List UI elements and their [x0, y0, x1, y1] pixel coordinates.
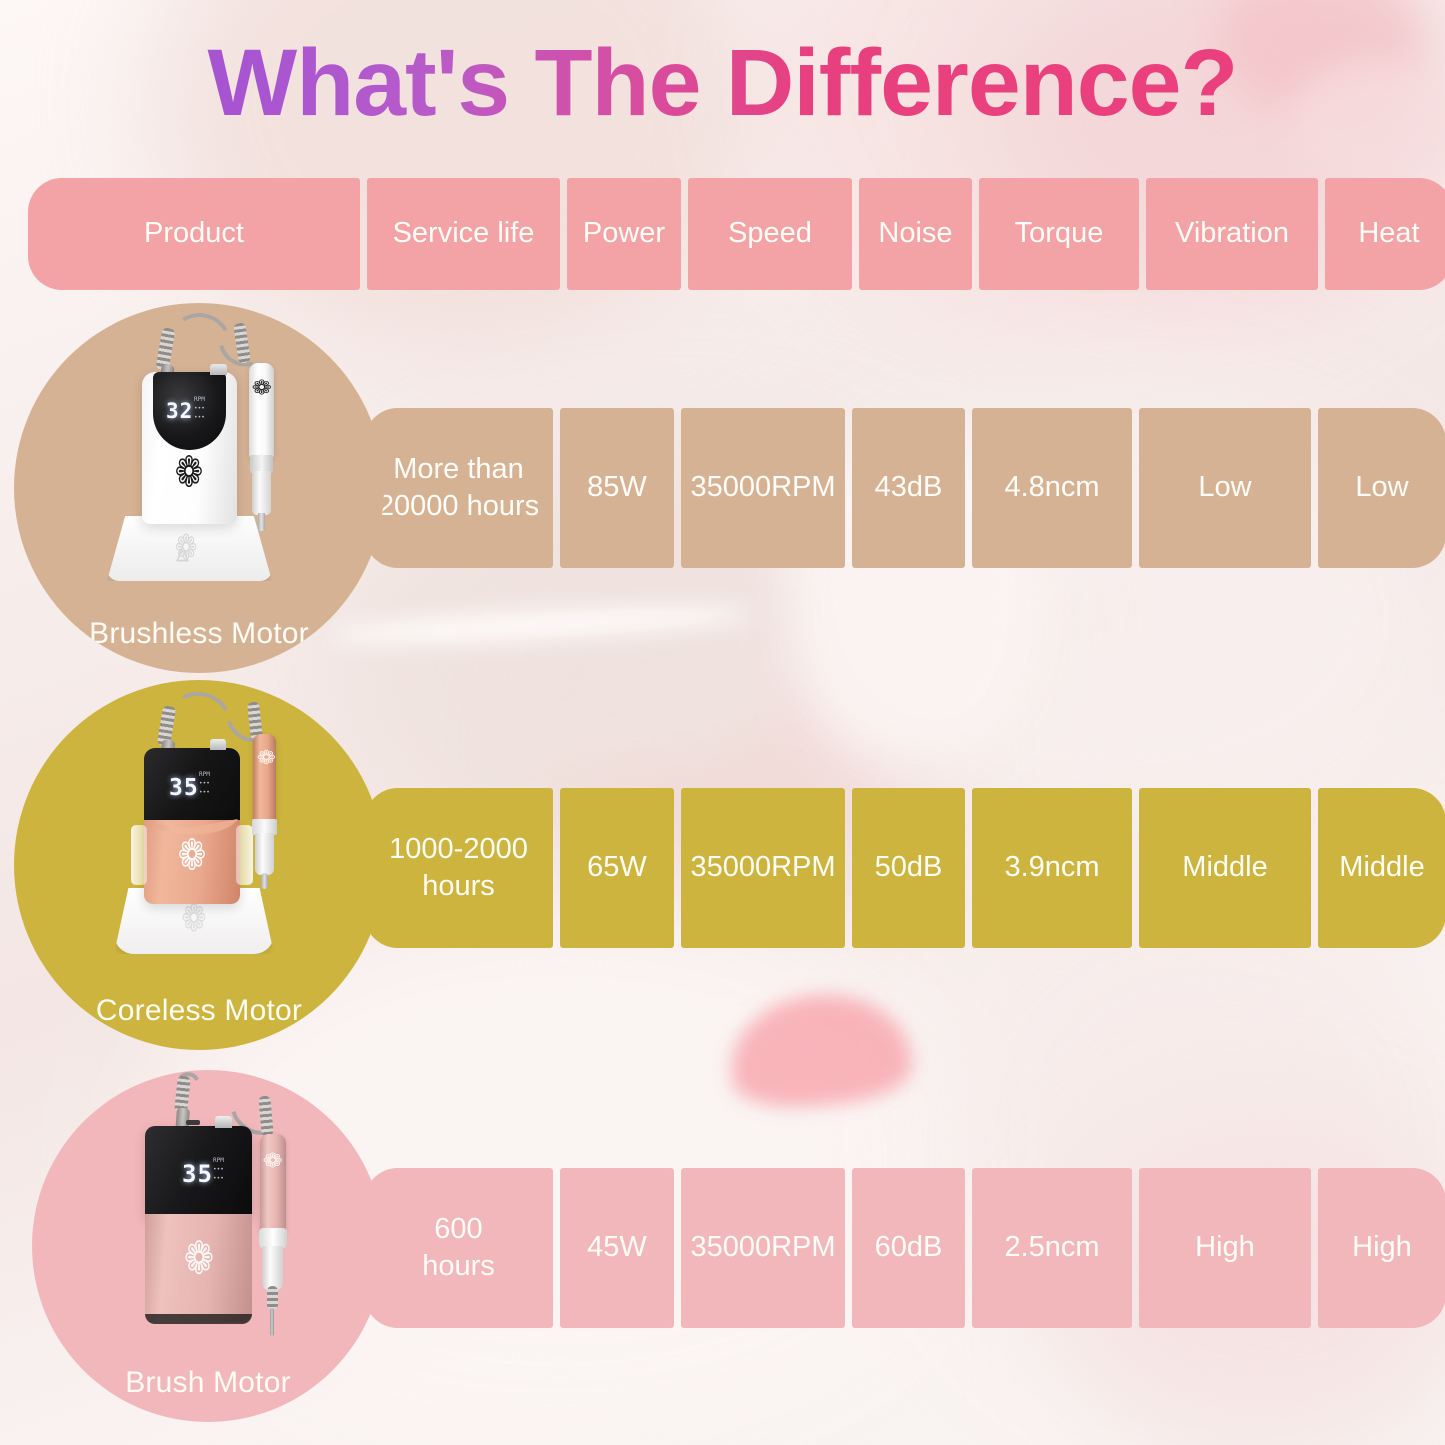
header-cell-noise: Noise — [859, 178, 972, 290]
page-title: What's The Difference? — [0, 34, 1445, 134]
product-label: Brush Motor — [125, 1366, 291, 1422]
header-cell-vibration: Vibration — [1146, 178, 1318, 290]
cell-vibration: High — [1139, 1168, 1311, 1328]
cell-power: 85W — [560, 408, 674, 568]
service-line-2: 20000 hours — [378, 490, 539, 522]
product-label: Brushless Motor — [89, 617, 309, 673]
product-circle-coreless: ❁ 35 RPM•••••• ❁ ❁ Coreless Motor — [14, 680, 384, 1050]
header-cell-speed: Speed — [688, 178, 852, 290]
service-line-2: hours — [422, 870, 495, 902]
service-line-1: 1000-2000 — [389, 833, 528, 865]
device-display-value: 35 — [182, 1160, 213, 1188]
cell-torque: 4.8ncm — [972, 408, 1132, 568]
header-cell-service: Service life — [367, 178, 560, 290]
cell-heat: High — [1318, 1168, 1445, 1328]
cell-heat: Middle — [1318, 788, 1445, 948]
product-circle-brushless: ▵ ❁ 32 RPM•••••• ❁ ❁ Brushless Motor — [14, 303, 384, 673]
product-circle-brush: 35 RPM•••••• ❁ ❁ Brush Motor — [32, 1070, 384, 1422]
header-cell-power: Power — [567, 178, 681, 290]
table-header-row: Product Service life Power Speed Noise T… — [28, 178, 1445, 290]
cell-speed: 35000RPM — [681, 788, 845, 948]
cell-service-life: More than 20000 hours — [364, 408, 553, 568]
cell-noise: 60dB — [852, 1168, 965, 1328]
header-cell-torque: Torque — [979, 178, 1139, 290]
cell-power: 65W — [560, 788, 674, 948]
cell-vibration: Low — [1139, 408, 1311, 568]
device-display-value: 35 — [169, 775, 199, 801]
cell-torque: 2.5ncm — [972, 1168, 1132, 1328]
cell-service-life: 600 hours — [364, 1168, 553, 1328]
service-line-2: hours — [422, 1250, 495, 1282]
table-row: 1000-2000 hours 65W 35000RPM 50dB 3.9ncm… — [364, 788, 1445, 948]
cell-torque: 3.9ncm — [972, 788, 1132, 948]
table-row: More than 20000 hours 85W 35000RPM 43dB … — [364, 408, 1445, 568]
cell-heat: Low — [1318, 408, 1445, 568]
service-line-1: More than — [393, 453, 524, 485]
cell-noise: 50dB — [852, 788, 965, 948]
infographic-page: What's The Difference? Product Service l… — [0, 0, 1445, 1445]
cell-speed: 35000RPM — [681, 408, 845, 568]
cell-power: 45W — [560, 1168, 674, 1328]
header-cell-heat: Heat — [1325, 178, 1445, 290]
table-row: 600 hours 45W 35000RPM 60dB 2.5ncm High … — [364, 1168, 1445, 1328]
cell-service-life: 1000-2000 hours — [364, 788, 553, 948]
header-cell-product: Product — [28, 178, 360, 290]
cell-noise: 43dB — [852, 408, 965, 568]
cell-speed: 35000RPM — [681, 1168, 845, 1328]
product-label: Coreless Motor — [96, 994, 302, 1050]
service-line-1: 600 — [434, 1213, 482, 1245]
device-display-value: 32 — [166, 399, 193, 423]
cell-vibration: Middle — [1139, 788, 1311, 948]
